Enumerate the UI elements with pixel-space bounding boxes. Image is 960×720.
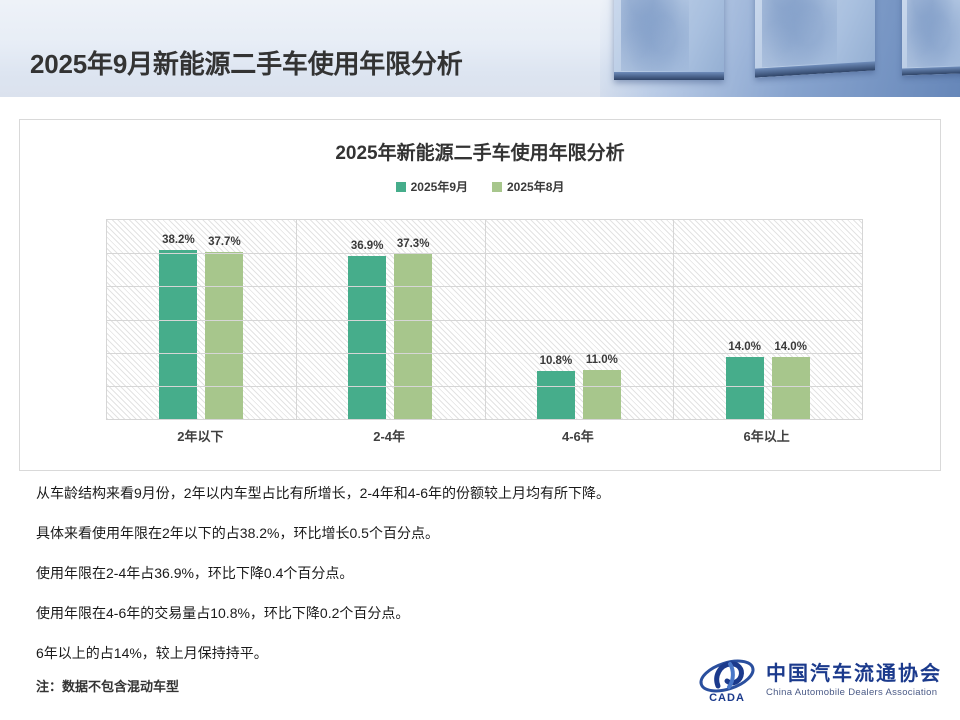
analysis-paragraph-0: 从车龄结构来看9月份，2年以内车型占比有所增长，2-4年和4-6年的份额较上月均… [36,484,926,503]
bar-value-label: 37.7% [196,236,252,248]
analysis-paragraph-2: 使用年限在2-4年占36.9%，环比下降0.4个百分点。 [36,564,926,583]
bar-value-label: 14.0% [763,341,819,353]
legend-label: 2025年9月 [411,178,468,195]
legend-swatch-icon [396,182,406,192]
decorative-cube-2 [755,0,875,78]
x-axis-label-0: 2年以下 [106,426,295,445]
legend-label: 2025年8月 [507,178,564,195]
cada-emblem-icon: CADA [696,656,758,704]
category-separator [673,220,674,419]
bar[interactable] [537,371,575,419]
x-axis-category-labels: 2年以下2-4年4-6年6年以上 [106,426,863,448]
logo-name-en: China Automobile Dealers Association [766,686,942,699]
bar[interactable] [159,250,197,419]
chart-plot-area: 38.2%37.7%36.9%37.3%10.8%11.0%14.0%14.0% [106,219,863,420]
bar[interactable] [394,254,432,419]
legend-item-0[interactable]: 2025年9月 [396,178,468,195]
logo-text-block: 中国汽车流通协会 China Automobile Dealers Associ… [766,662,942,699]
bar[interactable] [726,357,764,419]
bar[interactable] [348,256,386,419]
header-divider [0,97,960,100]
cube-base-shadow [614,72,724,80]
bar-value-label: 11.0% [574,354,630,366]
legend-item-1[interactable]: 2025年8月 [492,178,564,195]
analysis-paragraph-1: 具体来看使用年限在2年以下的占38.2%，环比增长0.5个百分点。 [36,524,926,543]
bar-value-label: 37.3% [385,238,441,250]
legend-swatch-icon [492,182,502,192]
cada-emblem-svg: CADA [696,656,758,704]
decorative-cube-3 [902,0,960,76]
bar[interactable] [205,252,243,419]
svg-text:CADA: CADA [709,692,745,704]
page-header: 2025年9月新能源二手车使用年限分析 [0,0,960,97]
footnote: 注：数据不包含混动车型 [36,676,179,695]
x-axis-label-2: 4-6年 [484,426,673,445]
analysis-paragraph-3: 使用年限在4-6年的交易量占10.8%，环比下降0.2个百分点。 [36,604,926,623]
decorative-cube-1 [614,0,724,80]
logo-name-cn: 中国汽车流通协会 [766,662,942,686]
header-decoration-cubes [600,0,960,97]
x-axis-label-3: 6年以上 [672,426,861,445]
x-axis-label-1: 2-4年 [295,426,484,445]
category-separator [296,220,297,419]
chart-title: 2025年新能源二手车使用年限分析 [20,138,940,165]
bar[interactable] [772,357,810,419]
analysis-text: 从车龄结构来看9月份，2年以内车型占比有所增长，2-4年和4-6年的份额较上月均… [36,484,926,684]
chart-legend: 2025年9月2025年8月 [20,178,940,195]
chart-card: 2025年新能源二手车使用年限分析 2025年9月2025年8月 38.2%37… [19,119,941,471]
page-title: 2025年9月新能源二手车使用年限分析 [30,44,463,81]
category-separator [485,220,486,419]
bar[interactable] [583,370,621,419]
cada-logo: CADA 中国汽车流通协会 China Automobile Dealers A… [696,656,942,704]
